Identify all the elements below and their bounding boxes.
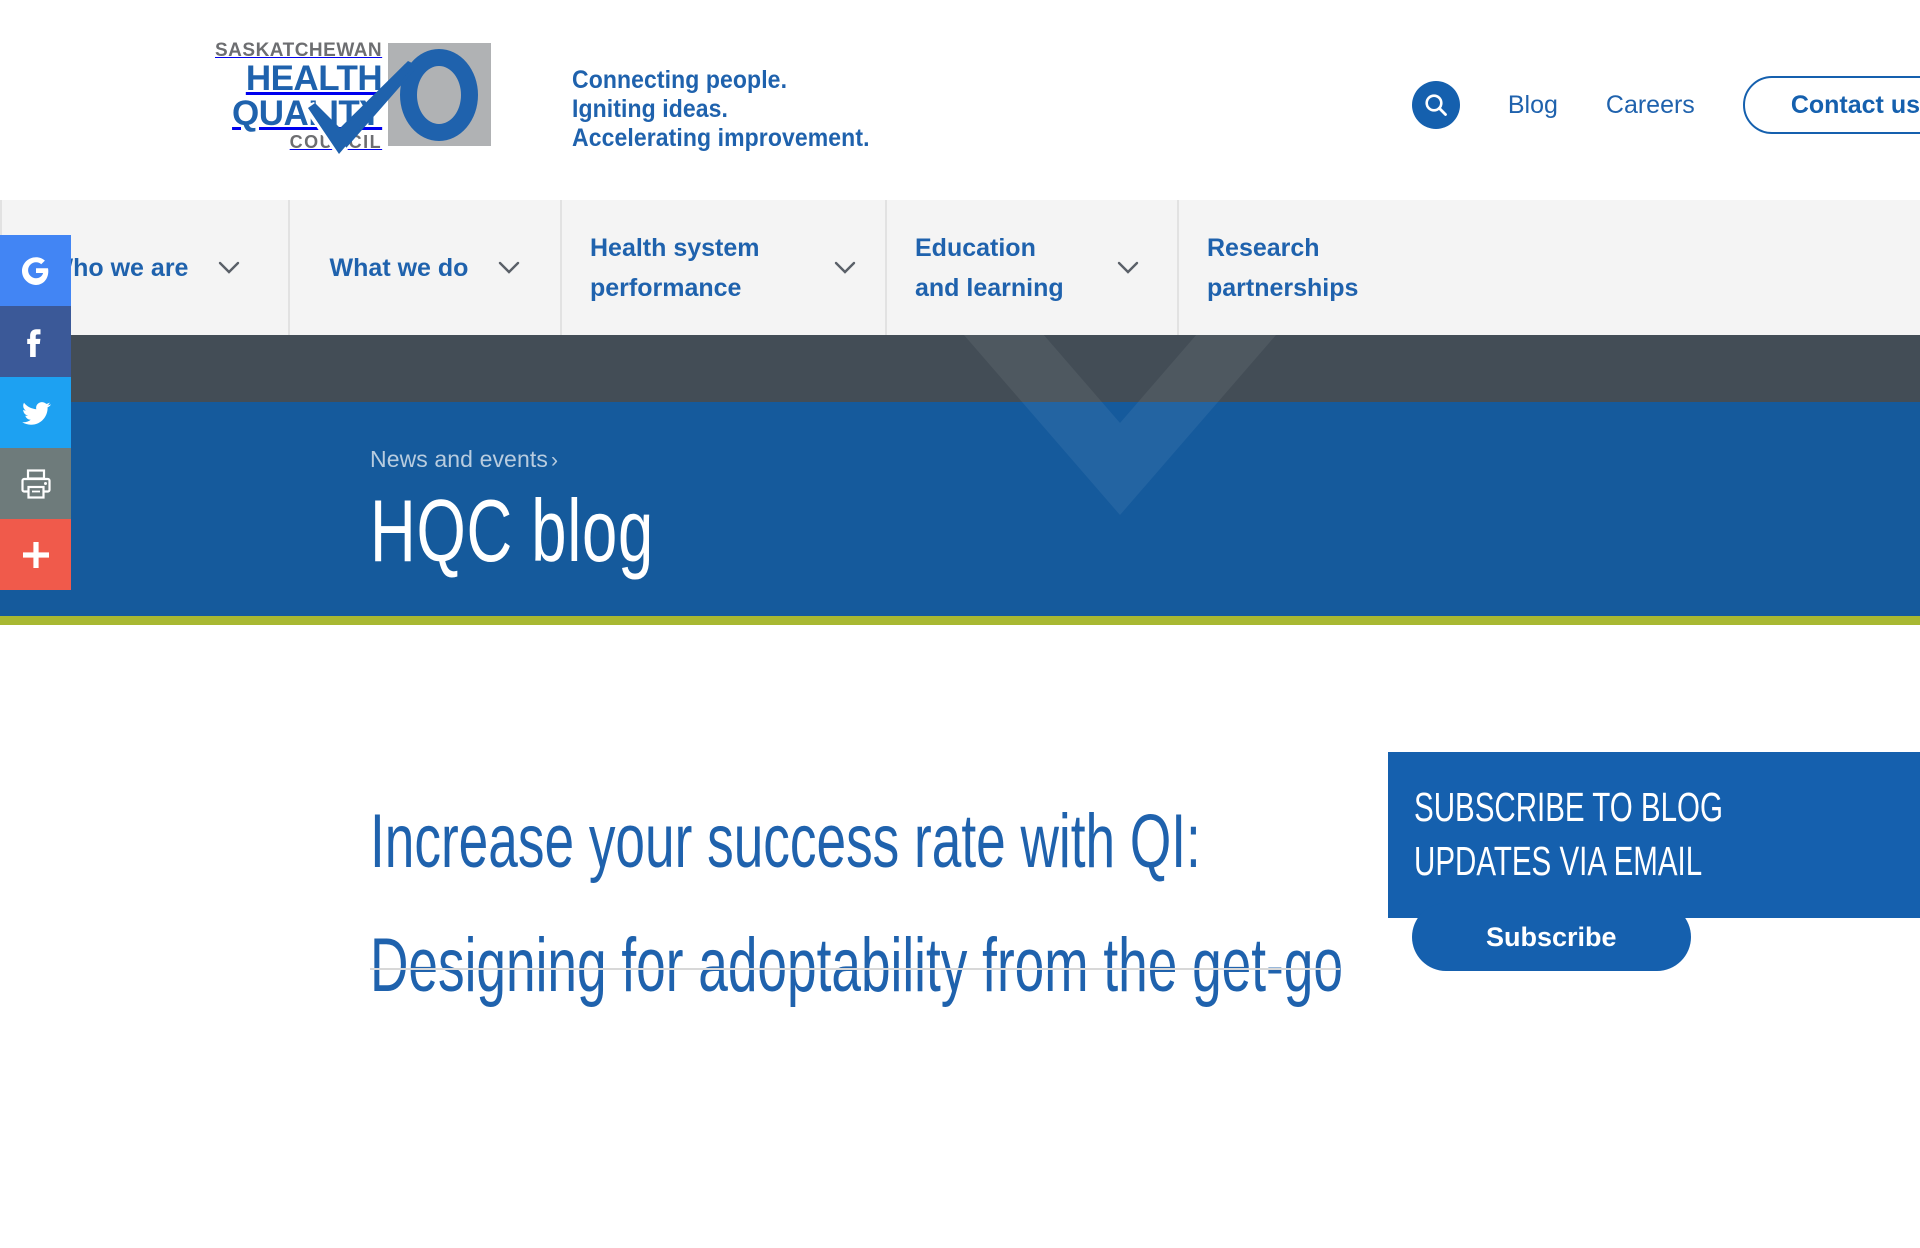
search-button[interactable]	[1412, 81, 1460, 129]
subscribe-heading-line-1: SUBSCRIBE TO BLOG	[1414, 780, 1780, 834]
blog-post-entry: Increase your success rate with QI: Desi…	[370, 780, 1340, 1028]
breadcrumb[interactable]: News and events›	[370, 446, 764, 473]
logo-q-ring	[400, 49, 478, 141]
subscribe-heading: SUBSCRIBE TO BLOG UPDATES VIA EMAIL	[1414, 780, 1780, 888]
social-share-more[interactable]	[0, 519, 71, 590]
subscribe-panel: SUBSCRIBE TO BLOG UPDATES VIA EMAIL	[1388, 752, 1920, 918]
google-icon	[19, 254, 53, 288]
page-root: SASKATCHEWAN HEALTH QUALITY COUNCIL Conn…	[0, 0, 1920, 1248]
nav-item-research-partnerships[interactable]: Research partnerships	[1179, 200, 1409, 335]
search-icon	[1423, 92, 1449, 118]
nav-item-label: Research partnerships	[1207, 228, 1381, 308]
header-link-careers[interactable]: Careers	[1606, 91, 1695, 120]
contact-us-button[interactable]: Contact us	[1743, 76, 1920, 134]
social-share-google[interactable]	[0, 235, 71, 306]
logo-wordmark: SASKATCHEWAN HEALTH QUALITY COUNCIL	[215, 35, 388, 153]
primary-navigation: Who we are What we do Health system perf…	[0, 200, 1920, 335]
nav-item-health-system-performance[interactable]: Health system performance	[562, 200, 887, 335]
blog-post-divider	[370, 968, 1340, 970]
twitter-icon	[18, 395, 54, 431]
nav-item-label: Education and learning	[915, 228, 1087, 308]
logo-line-health: HEALTH	[215, 61, 382, 96]
nav-item-label: Health system performance	[590, 228, 790, 308]
logo-line-quality: QUALITY	[215, 96, 382, 131]
hero-dark-band	[0, 335, 1920, 402]
nav-item-what-we-do[interactable]: What we do	[290, 200, 562, 335]
subscribe-button[interactable]: Subscribe	[1412, 903, 1691, 971]
logo-q-mark	[388, 43, 491, 146]
blog-post-title-line-1: Increase your success rate with QI:	[370, 780, 1049, 904]
chevron-watermark-icon	[860, 402, 1380, 535]
print-icon	[19, 468, 53, 500]
chevron-watermark-icon	[860, 335, 1380, 402]
nav-item-label: What we do	[330, 248, 469, 288]
page-hero: News and events› HQC blog	[0, 402, 1920, 616]
chevron-down-icon	[498, 261, 520, 274]
plus-icon	[21, 540, 51, 570]
hero-content: News and events› HQC blog	[370, 446, 764, 579]
chevron-down-icon	[218, 261, 240, 274]
hero-accent-rule	[0, 616, 1920, 625]
page-title: HQC blog	[370, 483, 654, 579]
chevron-down-icon	[834, 261, 856, 274]
site-logo[interactable]: SASKATCHEWAN HEALTH QUALITY COUNCIL	[215, 35, 491, 153]
social-share-facebook[interactable]	[0, 306, 71, 377]
site-header: SASKATCHEWAN HEALTH QUALITY COUNCIL Conn…	[0, 0, 1920, 200]
subscribe-heading-line-2: UPDATES VIA EMAIL	[1414, 834, 1780, 888]
header-utility-nav: Blog Careers Contact us	[1412, 76, 1920, 134]
tagline-line-2: Igniting ideas.	[572, 95, 870, 124]
facebook-icon	[19, 325, 53, 359]
logo-line-council: COUNCIL	[215, 131, 382, 153]
blog-post-title: Increase your success rate with QI: Desi…	[370, 780, 1049, 1028]
social-share-sidebar	[0, 235, 71, 590]
logo-line-saskatchewan: SASKATCHEWAN	[215, 41, 382, 61]
breadcrumb-chevron-icon: ›	[551, 449, 558, 472]
nav-item-education-and-learning[interactable]: Education and learning	[887, 200, 1179, 335]
social-share-twitter[interactable]	[0, 377, 71, 448]
nav-spacer	[1409, 200, 1920, 335]
subscribe-button-wrap: Subscribe	[1412, 903, 1691, 971]
blog-post-title-line-2: Designing for adoptability from the get-…	[370, 904, 1049, 1028]
header-link-blog[interactable]: Blog	[1508, 91, 1558, 120]
brand-tagline: Connecting people. Igniting ideas. Accel…	[572, 66, 870, 153]
blog-post-title-link[interactable]: Increase your success rate with QI: Desi…	[370, 780, 1340, 1028]
tagline-line-1: Connecting people.	[572, 66, 870, 95]
chevron-down-icon	[1117, 261, 1139, 274]
tagline-line-3: Accelerating improvement.	[572, 124, 870, 153]
breadcrumb-link-news-and-events[interactable]: News and events	[370, 446, 548, 472]
social-share-print[interactable]	[0, 448, 71, 519]
